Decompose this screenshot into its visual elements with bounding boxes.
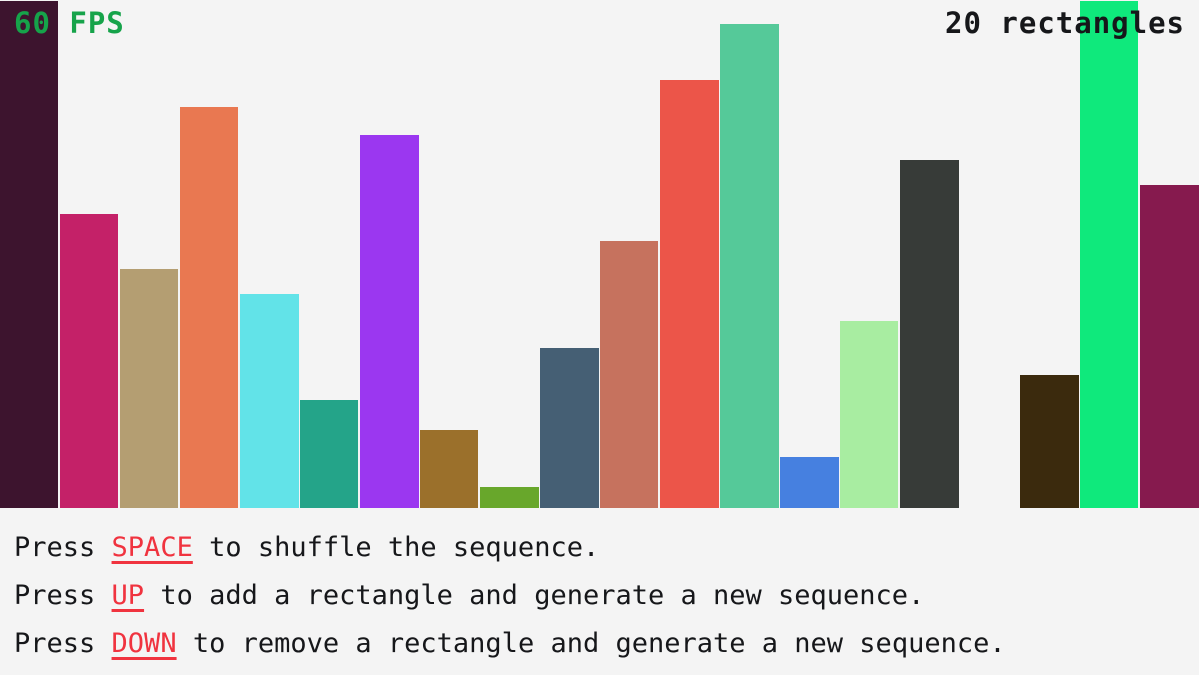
bar-rectangle — [120, 269, 178, 508]
instruction-line: Press DOWN to remove a rectangle and gen… — [14, 620, 1199, 668]
bar-rectangle — [900, 160, 959, 508]
bar-rectangle — [180, 107, 238, 508]
bar-rectangle — [0, 1, 58, 508]
bar-rectangle — [720, 24, 779, 508]
bar-rectangle — [300, 400, 358, 508]
bar-rectangle — [1020, 375, 1079, 508]
bar-rectangle — [1140, 185, 1199, 508]
bar-chart — [0, 0, 1199, 508]
fps-counter: 60 FPS — [14, 9, 125, 38]
key-hint-up[interactable]: UP — [112, 580, 145, 611]
instruction-line: Press UP to add a rectangle and generate… — [14, 572, 1199, 620]
instruction-suffix: to shuffle the sequence. — [193, 532, 599, 563]
bar-rectangle — [1080, 1, 1138, 508]
bar-rectangle — [600, 241, 658, 508]
bar-rectangle — [780, 457, 839, 508]
key-hint-space[interactable]: SPACE — [112, 532, 193, 563]
instruction-prefix: Press — [14, 580, 112, 611]
bar-rectangle — [480, 487, 539, 508]
rectangle-count-label: 20 rectangles — [945, 9, 1185, 38]
bar-rectangle — [360, 135, 419, 508]
key-hint-down[interactable]: DOWN — [112, 628, 177, 659]
instruction-suffix: to add a rectangle and generate a new se… — [144, 580, 924, 611]
bar-rectangle — [840, 321, 898, 508]
app-root: 60 FPS 20 rectangles Press SPACE to shuf… — [0, 0, 1199, 675]
instruction-prefix: Press — [14, 628, 112, 659]
instruction-prefix: Press — [14, 532, 112, 563]
instruction-line: Press SPACE to shuffle the sequence. — [14, 524, 1199, 572]
bar-rectangle — [540, 348, 599, 508]
instruction-suffix: to remove a rectangle and generate a new… — [177, 628, 1006, 659]
bar-rectangle — [660, 80, 719, 508]
bar-rectangle — [60, 214, 118, 508]
bar-rectangle — [420, 430, 478, 508]
bar-rectangle — [240, 294, 299, 508]
instructions-panel: Press SPACE to shuffle the sequence.Pres… — [0, 508, 1199, 675]
